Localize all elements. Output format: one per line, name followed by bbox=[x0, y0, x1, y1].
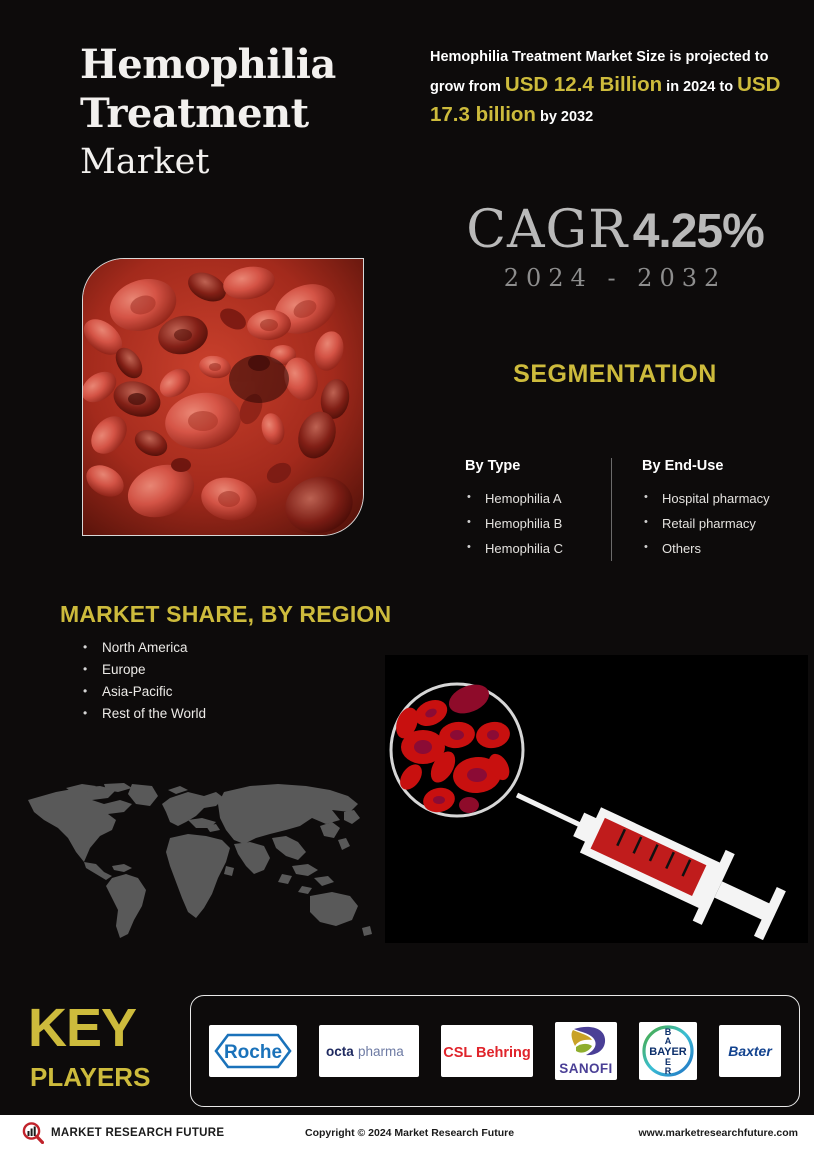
octapharma-logo-icon: octa pharma bbox=[320, 1036, 418, 1066]
market-research-future-logo-icon bbox=[22, 1122, 44, 1144]
title-line-2: Treatment bbox=[80, 89, 410, 138]
footer-bar: MARKET RESEARCH FUTURE Copyright © 2024 … bbox=[0, 1115, 814, 1150]
cagr-block: CAGR 4.25% 2024 - 2032 bbox=[430, 200, 800, 292]
svg-text:A: A bbox=[665, 1036, 672, 1046]
baxter-logo-icon: Baxter bbox=[720, 1038, 780, 1064]
red-blood-cells-image bbox=[82, 258, 364, 536]
list-item: Hemophilia A bbox=[465, 486, 597, 511]
logo-octapharma[interactable]: octa pharma bbox=[319, 1025, 419, 1077]
title-line-3: Market bbox=[80, 138, 410, 186]
svg-text:pharma: pharma bbox=[358, 1044, 404, 1059]
market-share-region-list: North America Europe Asia-Pacific Rest o… bbox=[80, 637, 206, 725]
market-value-2024: USD 12.4 Billion bbox=[505, 73, 662, 96]
logo-roche[interactable]: Roche bbox=[209, 1025, 297, 1077]
svg-text:octa: octa bbox=[326, 1044, 354, 1059]
list-item: Hospital pharmacy bbox=[642, 486, 792, 511]
key-players-heading-line-2: PLAYERS bbox=[30, 1062, 150, 1093]
intro-part-3: by 2032 bbox=[536, 109, 593, 125]
sanofi-logo-icon: SANOFI bbox=[556, 1023, 616, 1079]
svg-text:SANOFI: SANOFI bbox=[559, 1061, 612, 1076]
list-item: Hemophilia C bbox=[465, 536, 597, 561]
logo-bayer[interactable]: BAYER B A E R bbox=[639, 1022, 697, 1080]
market-size-statement: Hemophilia Treatment Market Size is proj… bbox=[430, 44, 790, 131]
list-item: Rest of the World bbox=[80, 703, 206, 725]
logo-csl-behring[interactable]: CSL Behring bbox=[441, 1025, 533, 1077]
list-item: Others bbox=[642, 536, 792, 561]
title-line-1: Hemophilia bbox=[80, 40, 410, 89]
footer-copyright: Copyright © 2024 Market Research Future bbox=[305, 1127, 514, 1139]
segmentation-heading: By Type bbox=[465, 458, 597, 474]
svg-text:R: R bbox=[665, 1066, 672, 1076]
world-map-icon bbox=[20, 782, 380, 940]
logo-baxter[interactable]: Baxter bbox=[719, 1025, 781, 1077]
segmentation-heading: By End-Use bbox=[642, 458, 792, 474]
svg-text:Roche: Roche bbox=[224, 1042, 282, 1063]
syringe-icon bbox=[385, 655, 808, 943]
bayer-logo-icon: BAYER B A E R bbox=[640, 1023, 696, 1079]
market-share-title: MARKET SHARE, BY REGION bbox=[60, 601, 391, 628]
segmentation-column-by-end-use: By End-Use Hospital pharmacy Retail phar… bbox=[642, 458, 792, 561]
cagr-line: CAGR 4.25% bbox=[430, 200, 800, 260]
key-players-logo-box: Roche octa pharma CSL Behring SANOFI bbox=[190, 995, 800, 1107]
list-item: Hemophilia B bbox=[465, 511, 597, 536]
list-item: Asia-Pacific bbox=[80, 681, 206, 703]
segmentation-list: Hospital pharmacy Retail pharmacy Others bbox=[642, 486, 792, 561]
svg-text:CSL Behring: CSL Behring bbox=[443, 1045, 531, 1061]
cagr-value: 4.25% bbox=[633, 205, 764, 258]
list-item: North America bbox=[80, 637, 206, 659]
roche-logo-icon: Roche bbox=[210, 1028, 296, 1074]
list-item: Retail pharmacy bbox=[642, 511, 792, 536]
footer-url[interactable]: www.marketresearchfuture.com bbox=[638, 1127, 798, 1139]
footer-brand-text: MARKET RESEARCH FUTURE bbox=[51, 1127, 224, 1139]
footer-brand[interactable]: MARKET RESEARCH FUTURE bbox=[22, 1122, 224, 1144]
infographic-page: Hemophilia Treatment Market Hemophilia T… bbox=[0, 0, 814, 1150]
segmentation-column-by-type: By Type Hemophilia A Hemophilia B Hemoph… bbox=[465, 458, 612, 561]
blood-cells-illustration bbox=[83, 259, 363, 535]
segmentation-list: Hemophilia A Hemophilia B Hemophilia C bbox=[465, 486, 597, 561]
page-title: Hemophilia Treatment Market bbox=[80, 40, 410, 186]
syringe-blood-illustration bbox=[385, 655, 808, 943]
logo-sanofi[interactable]: SANOFI bbox=[555, 1022, 617, 1080]
intro-part-2: in 2024 to bbox=[662, 79, 737, 95]
key-players-heading-line-1: KEY bbox=[28, 1000, 136, 1056]
world-map bbox=[20, 782, 380, 940]
svg-text:Baxter: Baxter bbox=[728, 1043, 773, 1059]
cagr-period: 2024 - 2032 bbox=[430, 264, 800, 292]
segmentation-title: SEGMENTATION bbox=[430, 360, 800, 389]
list-item: Europe bbox=[80, 659, 206, 681]
cagr-label: CAGR bbox=[466, 200, 628, 260]
segmentation-columns: By Type Hemophilia A Hemophilia B Hemoph… bbox=[465, 458, 795, 561]
csl-behring-logo-icon: CSL Behring bbox=[442, 1037, 532, 1065]
